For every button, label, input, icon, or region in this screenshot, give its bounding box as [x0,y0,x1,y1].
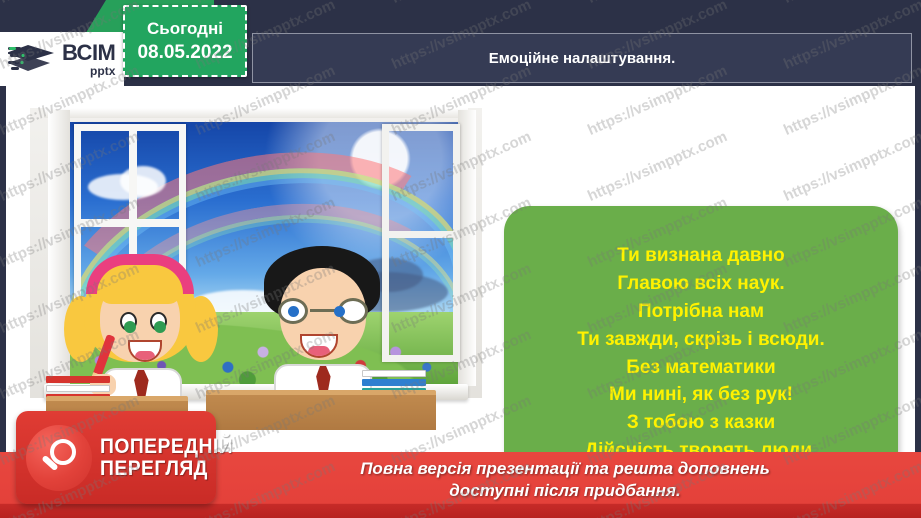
book [362,370,426,377]
poem-line: З тобою з казки [627,409,775,437]
poem-line: Главою всіх наук. [617,270,784,298]
girl-tongue [135,351,154,360]
poem-line: Ти завжди, скрізь і всюди. [577,326,825,354]
poem-line: Ми нині, як без рук! [609,381,793,409]
boy-pupil-right [334,306,345,317]
slide-root: ВСІМ pptx Сьогодні 08.05.2022 Емоційне н… [0,0,921,518]
classroom-illustration [30,108,482,430]
poem-line: Потрібна нам [638,298,764,326]
window-jamb-right [458,110,476,386]
brand-name: ВСІМ [62,42,115,64]
purchase-banner-line1: Повна версія презентації та решта доповн… [220,458,910,480]
graduation-cap-icon [8,42,58,76]
desk-right [206,390,436,430]
page-title: Емоційне налаштування. [489,50,676,67]
brand-logo-text: ВСІМ pptx [62,42,115,77]
book [46,385,110,392]
purchase-banner-text: Повна версія презентації та решта доповн… [220,458,910,503]
preview-button[interactable]: ПОПЕРЕДНІЙ ПЕРЕГЛЯД [16,411,216,504]
book [362,379,426,386]
preview-button-line1: ПОПЕРЕДНІЙ [100,436,233,457]
book [46,376,110,383]
girl-pupil-left [124,321,136,333]
girl-eye-right [150,312,167,331]
brand-subname: pptx [90,65,115,77]
purchase-banner-line2: доступні після придбання. [220,480,910,502]
slide-title-bar: Емоційне налаштування. [252,33,912,83]
date-badge-label: Сьогодні [147,19,223,39]
boy-glasses-bridge [310,309,336,312]
magnifier-icon [26,425,92,491]
date-badge-value: 08.05.2022 [137,42,232,64]
slide-canvas: Ти визнана давно Главою всіх наук. Потрі… [6,86,915,452]
girl-headband [86,254,194,294]
preview-button-labels: ПОПЕРЕДНІЙ ПЕРЕГЛЯД [100,436,245,479]
girl-pupil-right [154,321,166,333]
window-sash-right [382,124,460,362]
girl-eye-left [120,312,137,331]
preview-button-line2: ПЕРЕГЛЯД [100,458,233,479]
brand-logo[interactable]: ВСІМ pptx [0,32,124,86]
window-header-trim [44,108,468,118]
poem-line: Ти визнана давно [617,242,784,270]
boy-tongue [308,346,330,356]
poem-line: Без математики [626,354,776,382]
boy-pupil-left [288,306,299,317]
date-badge: Сьогодні 08.05.2022 [123,5,247,77]
